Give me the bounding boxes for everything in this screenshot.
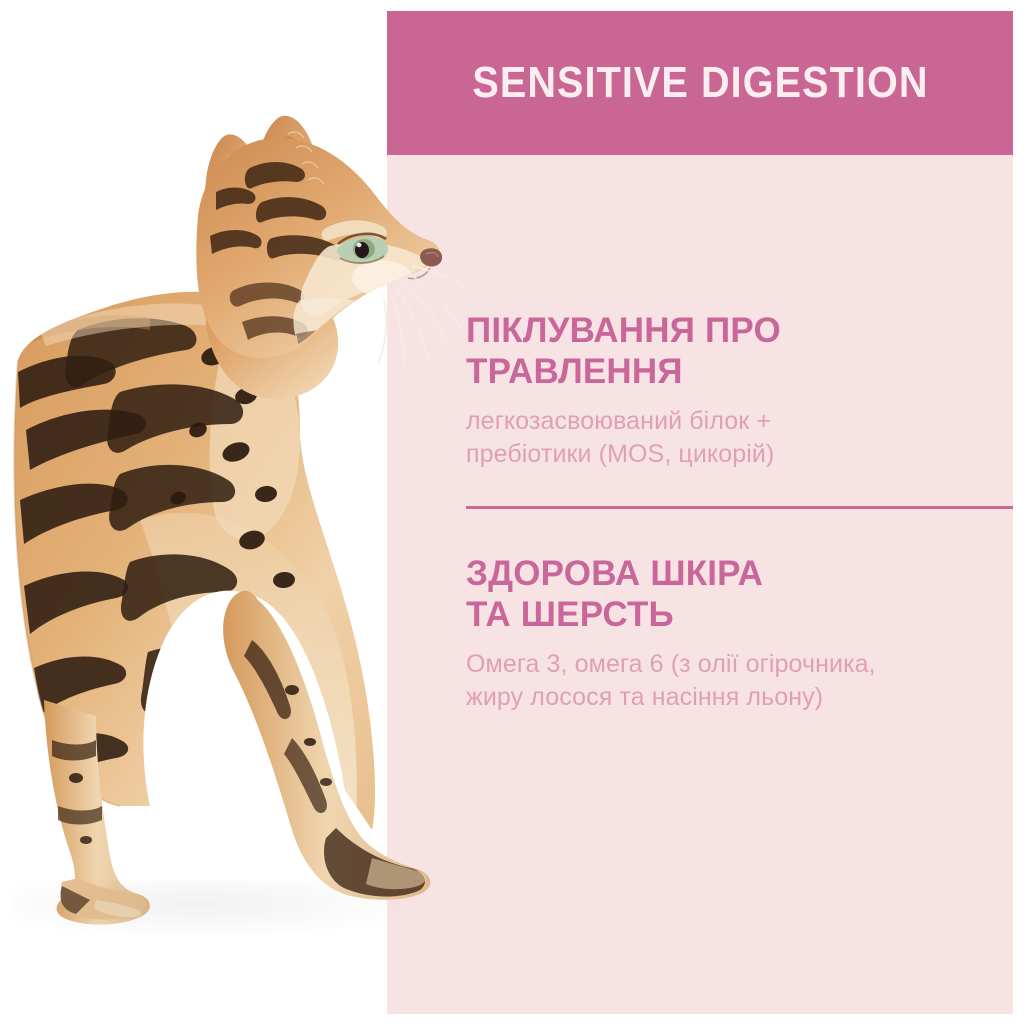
feature-block-digestion: ПІКЛУВАННЯ ПРО ТРАВЛЕННЯ легкозасвоювани… [466,310,1014,471]
feature-divider-wrap [466,506,1014,509]
header-bar: SENSITIVE DIGESTION [387,11,1013,155]
feature-description-skin-coat: Омега 3, омега 6 (з олії огірочника, жир… [466,648,1014,715]
feature-block-skin-coat: ЗДОРОВА ШКІРА ТА ШЕРСТЬ Омега 3, омега 6… [466,553,1014,714]
feature-description-digestion: легкозасвоюваний білок + пребіотики (MOS… [466,405,1014,472]
cat-neck [206,274,338,399]
cat-body [14,292,375,830]
cat-eye [337,234,388,263]
feature-heading-digestion: ПІКЛУВАННЯ ПРО ТРАВЛЕННЯ [466,310,1014,393]
header-title: SENSITIVE DIGESTION [472,61,928,105]
promo-banner: SENSITIVE DIGESTION ПІКЛУВАННЯ ПРО ТРАВЛ… [0,0,1024,1024]
feature-divider [466,506,1013,509]
floor-shadow [10,880,430,940]
features-list: ПІКЛУВАННЯ ПРО ТРАВЛЕННЯ легкозасвоювани… [466,310,1014,714]
cat-hind-leg [44,700,150,925]
feature-heading-skin-coat: ЗДОРОВА ШКІРА ТА ШЕРСТЬ [466,553,1014,636]
